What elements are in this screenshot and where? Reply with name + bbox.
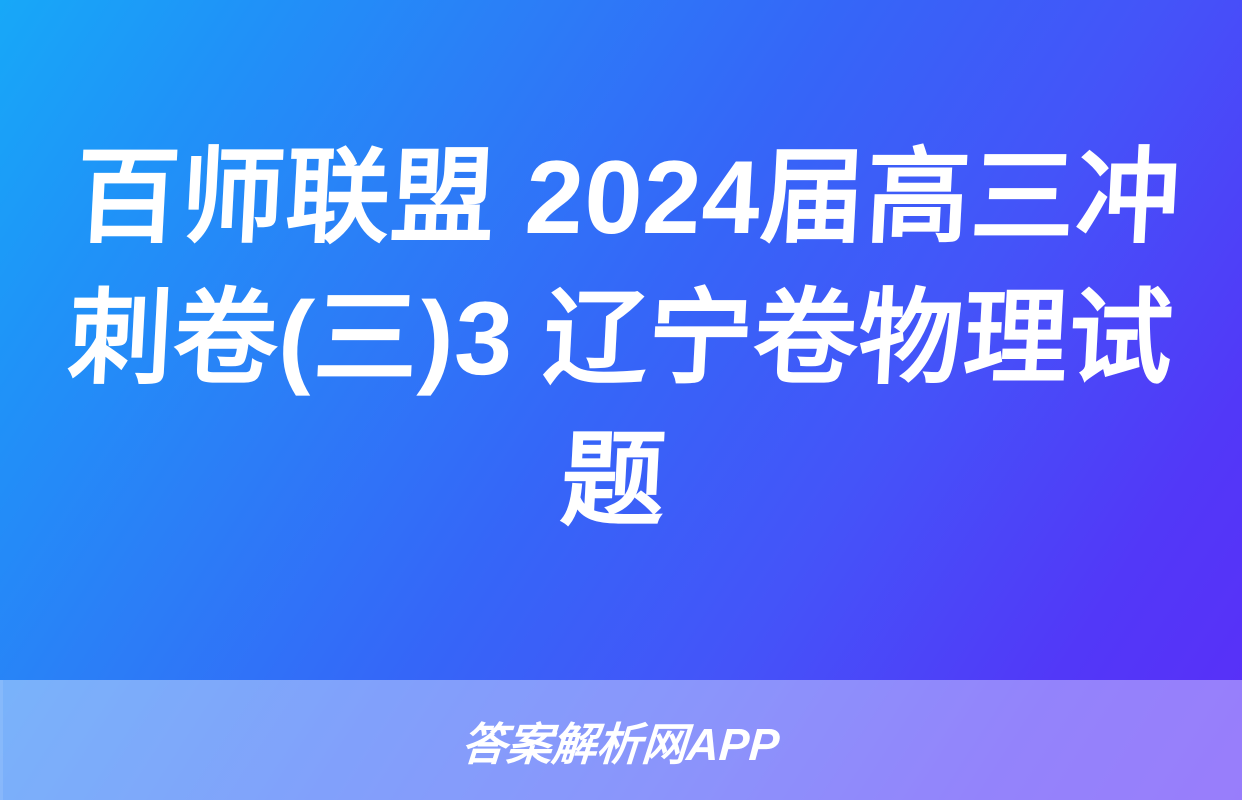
watermark-text: 答案解析网APP bbox=[460, 708, 782, 773]
page-title: 百师联盟 2024届高三冲刺卷(三)3 辽宁卷物理试题 bbox=[45, 128, 1197, 552]
poster-canvas: 百师联盟 2024届高三冲刺卷(三)3 辽宁卷物理试题 答案解析网APP bbox=[0, 0, 1242, 800]
title-container: 百师联盟 2024届高三冲刺卷(三)3 辽宁卷物理试题 bbox=[0, 0, 1242, 680]
watermark-container: 答案解析网APP bbox=[0, 680, 1242, 800]
